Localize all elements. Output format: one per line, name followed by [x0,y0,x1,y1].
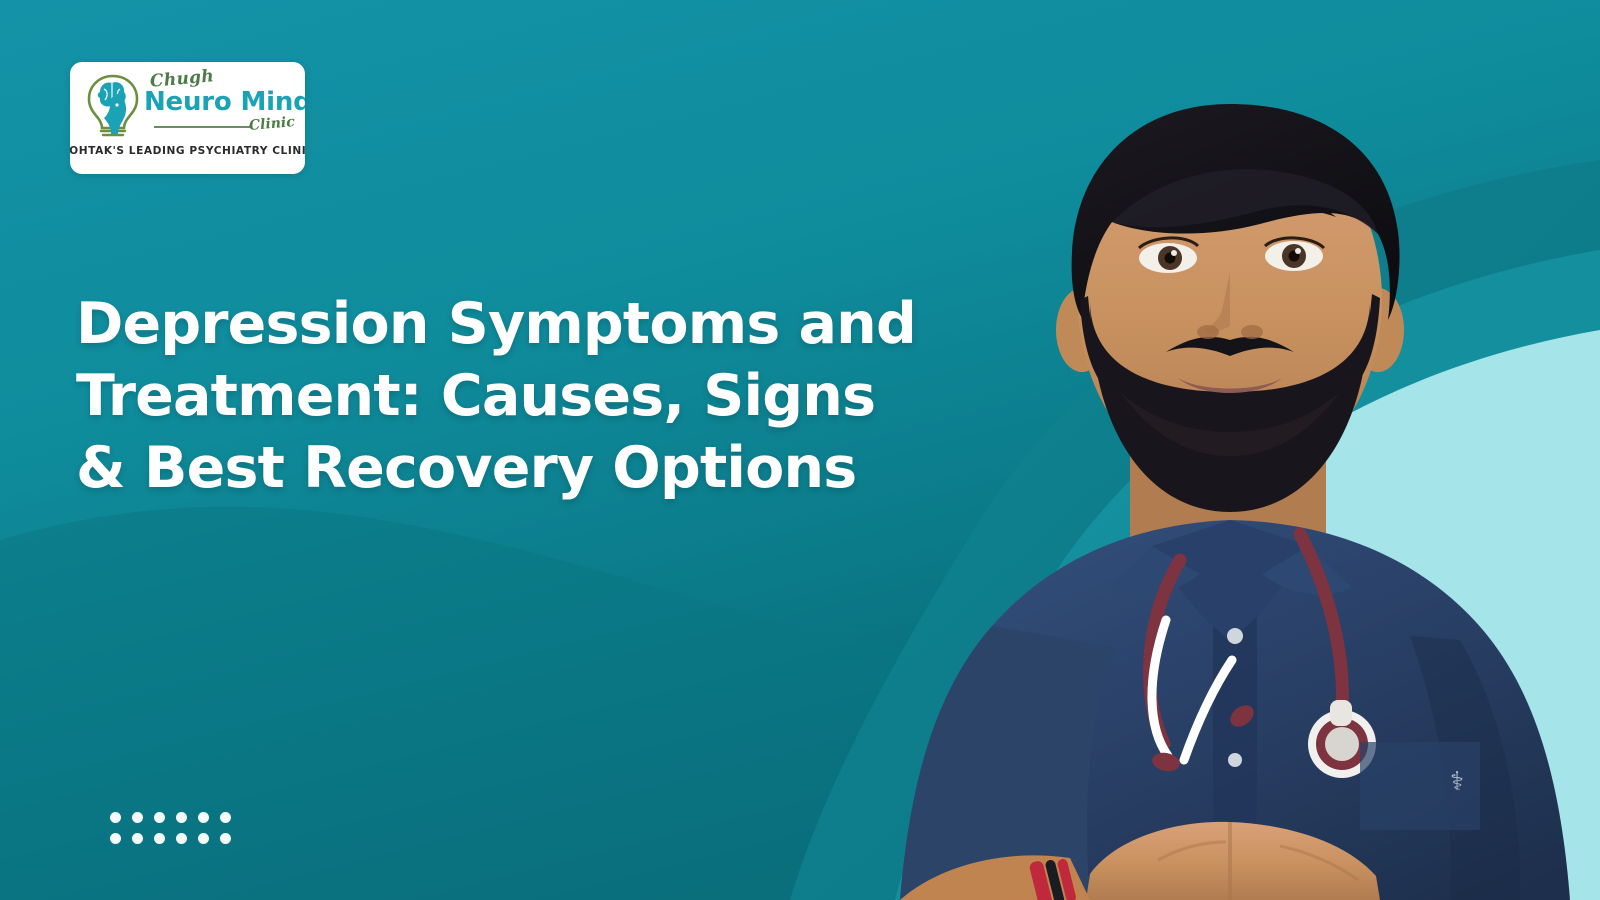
page-title: Depression Symptoms and Treatment: Cause… [76,288,976,504]
logo-underline [154,126,251,128]
dot [198,812,209,823]
dot-grid-decoration [110,812,231,844]
logo-main-word: Neuro Mind [144,87,305,117]
headline-line-1: Depression Symptoms and [76,288,976,360]
dot [198,833,209,844]
dot [176,833,187,844]
logo-top-row: Chugh Neuro Mind Clinic [78,68,297,142]
logo-wordmark: Chugh Neuro Mind Clinic [148,68,297,142]
headline-line-3: & Best Recovery Options [76,432,976,504]
dot [154,833,165,844]
dot [132,833,143,844]
dot [132,812,143,823]
dot [110,812,121,823]
logo-tagline: ROHTAK'S LEADING PSYCHIATRY CLINIC [70,145,305,157]
dot [154,812,165,823]
svg-text:⚕: ⚕ [1450,767,1464,797]
dot [110,833,121,844]
dot [220,833,231,844]
logo-clinic-word: Clinic [249,114,296,134]
dot [220,812,231,823]
banner-hero: ⚕ [0,0,1600,900]
headline-line-2: Treatment: Causes, Signs [76,360,976,432]
dot [176,812,187,823]
brain-lightbulb-head-icon [80,70,146,140]
clinic-logo-card[interactable]: Chugh Neuro Mind Clinic ROHTAK'S LEADING… [70,62,305,174]
